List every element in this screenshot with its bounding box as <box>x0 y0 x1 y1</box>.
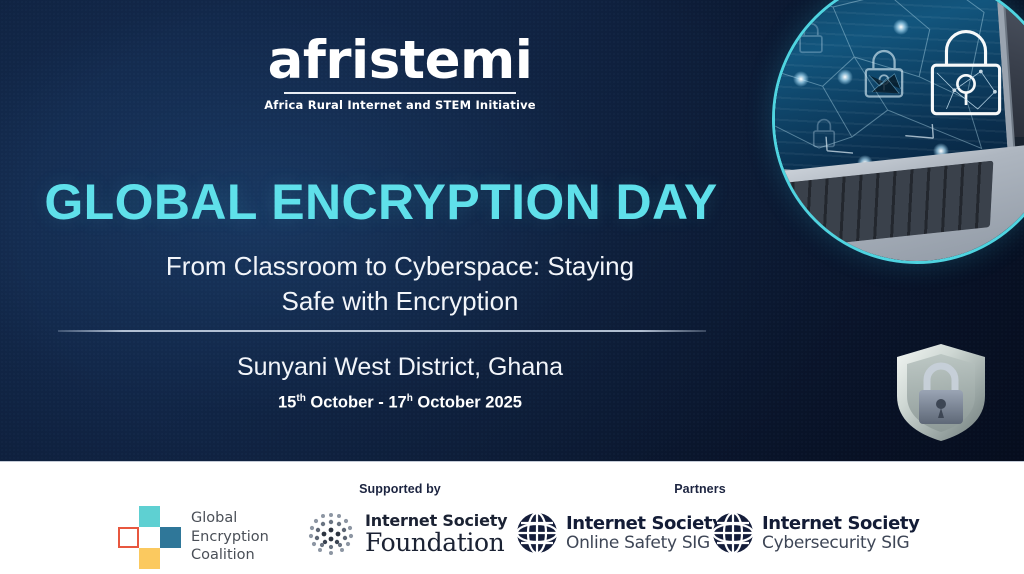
network-node <box>893 19 909 35</box>
event-poster: afristemi Africa Rural Internet and STEM… <box>0 0 1024 574</box>
global-encryption-coalition-squares-icon <box>118 506 180 568</box>
date-start-suffix: th <box>296 393 305 404</box>
partner-logo-online-safety-sig: Internet Society Online Safety SIG <box>516 512 723 554</box>
event-subtitle: From Classroom to Cyberspace: Staying Sa… <box>0 249 800 318</box>
date-end-suffix: h <box>407 393 413 404</box>
partner-name-line-1: Internet Society <box>566 514 723 533</box>
afristemi-logo: afristemi Africa Rural Internet and STEM… <box>0 34 800 112</box>
shield-padlock-icon <box>889 338 993 446</box>
date-year: 2025 <box>485 394 522 412</box>
footer-logos-bar: Supported by Partners Global Encryption … <box>0 461 1024 574</box>
date-end-day: 17 <box>388 394 406 412</box>
internet-society-foundation-line-1: Internet Society <box>365 513 507 529</box>
gec-square-right <box>160 527 181 548</box>
date-start-month: October <box>310 394 373 412</box>
internet-society-globe-icon <box>712 512 754 554</box>
network-node <box>837 69 853 85</box>
internet-society-globe-icon <box>516 512 558 554</box>
global-encryption-coalition-logo: Global Encryption Coalition <box>118 506 269 568</box>
gec-square-left <box>118 527 139 548</box>
padlock-medium-icon <box>861 45 907 101</box>
internet-society-foundation-line-2: Foundation <box>365 530 507 555</box>
event-location: Sunyani West District, Ghana <box>0 353 800 382</box>
internet-society-foundation-logo: Internet Society Foundation <box>306 509 507 559</box>
date-end-month: October <box>417 394 480 412</box>
section-divider <box>58 330 706 332</box>
laptop-keyboard <box>775 161 993 254</box>
partner-name-line-2: Online Safety SIG <box>566 534 723 552</box>
global-encryption-coalition-name: Global Encryption Coalition <box>191 509 269 565</box>
event-title: GLOBAL ENCRYPTION DAY <box>0 176 762 229</box>
padlock-small-icon <box>811 117 837 149</box>
gec-square-bottom <box>139 548 160 569</box>
padlock-small-icon <box>797 21 825 55</box>
gec-square-top <box>139 506 160 527</box>
padlock-large-icon <box>923 23 1009 123</box>
event-dates: 15th October - 17h October 2025 <box>0 393 800 413</box>
partners-caption: Partners <box>620 482 780 496</box>
partner-name-line-2: Cybersecurity SIG <box>762 534 919 552</box>
supported-by-caption: Supported by <box>320 482 480 496</box>
partner-logo-cybersecurity-sig: Internet Society Cybersecurity SIG <box>712 512 919 554</box>
event-subtitle-line-1: From Classroom to Cyberspace: Staying <box>0 249 800 284</box>
laptop-encryption-photo <box>772 0 1024 264</box>
date-start-day: 15 <box>278 394 296 412</box>
event-subtitle-line-2: Safe with Encryption <box>0 284 800 319</box>
partner-name-line-1: Internet Society <box>762 514 919 533</box>
afristemi-wordmark: afristemi <box>0 34 800 87</box>
date-separator: - <box>378 394 384 412</box>
dotted-globe-icon <box>306 509 356 559</box>
afristemi-tagline: Africa Rural Internet and STEM Initiativ… <box>0 98 800 112</box>
logo-divider-rule <box>284 92 516 94</box>
